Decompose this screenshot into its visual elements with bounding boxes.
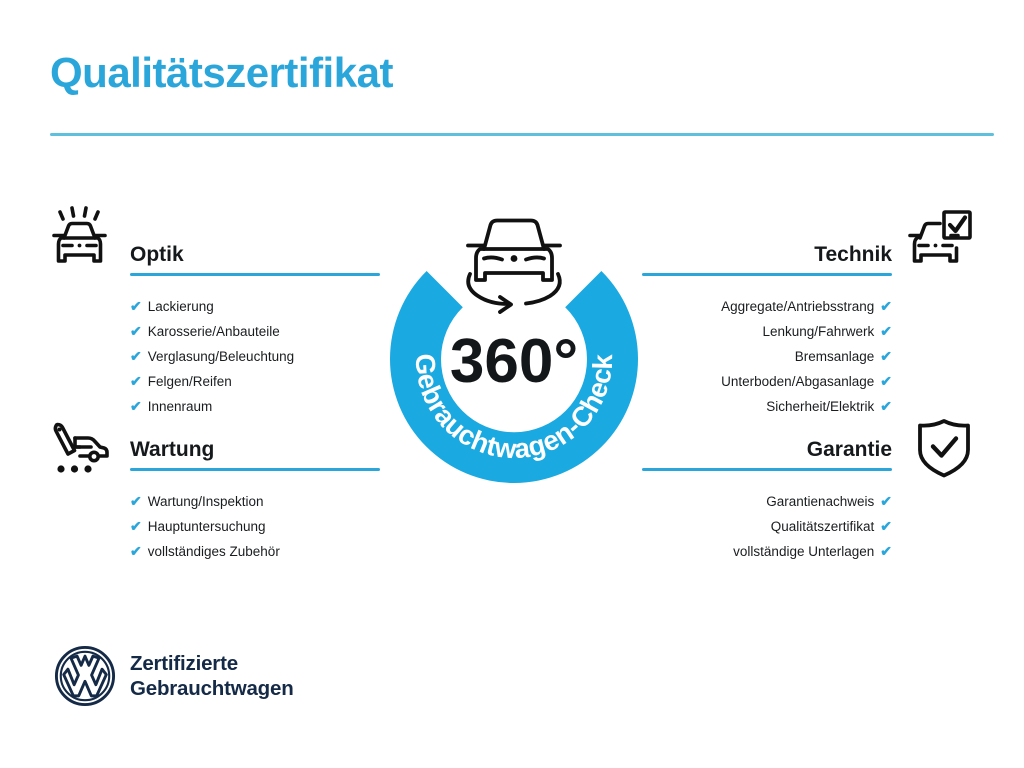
section-optik-underline <box>130 273 380 276</box>
check-icon: ✔ <box>130 518 142 534</box>
section-optik: Optik ✔Lackierung ✔Karosserie/Anbauteile… <box>130 240 380 419</box>
list-item-label: vollständige Unterlagen <box>733 544 874 559</box>
section-technik-underline <box>642 273 892 276</box>
check-icon: ✔ <box>130 348 142 364</box>
check-icon: ✔ <box>130 493 142 509</box>
list-item: ✔Verglasung/Beleuchtung <box>130 344 380 369</box>
section-optik-list: ✔Lackierung ✔Karosserie/Anbauteile ✔Verg… <box>130 294 380 419</box>
section-technik: Technik Aggregate/Antriebsstrang✔ Lenkun… <box>642 240 892 419</box>
section-wartung-underline <box>130 468 380 471</box>
section-wartung-header: Wartung <box>130 435 380 479</box>
section-technik-title: Technik <box>642 240 892 270</box>
check-icon: ✔ <box>130 398 142 414</box>
car-checkbox-icon <box>904 204 976 276</box>
section-optik-title: Optik <box>130 240 380 270</box>
check-icon: ✔ <box>880 398 892 414</box>
section-optik-header: Optik <box>130 240 380 284</box>
list-item-label: Garantienachweis <box>766 494 874 509</box>
list-item: ✔vollständiges Zubehör <box>130 539 380 564</box>
list-item-label: Verglasung/Beleuchtung <box>148 349 294 364</box>
list-item: Sicherheit/Elektrik✔ <box>642 394 892 419</box>
check-icon: ✔ <box>880 348 892 364</box>
section-technik-header: Technik <box>642 240 892 284</box>
shield-check-icon <box>908 412 980 484</box>
car-shine-icon <box>44 204 116 276</box>
list-item: vollständige Unterlagen✔ <box>642 539 892 564</box>
list-item: Unterboden/Abgasanlage✔ <box>642 369 892 394</box>
360-check-badge: Gebrauchtwagen-Check 360° <box>378 192 650 484</box>
list-item-label: Bremsanlage <box>795 349 875 364</box>
list-item: Lenkung/Fahrwerk✔ <box>642 319 892 344</box>
list-item-label: Sicherheit/Elektrik <box>766 399 874 414</box>
check-icon: ✔ <box>880 323 892 339</box>
list-item-label: Wartung/Inspektion <box>148 494 264 509</box>
check-icon: ✔ <box>130 323 142 339</box>
list-item-label: Lenkung/Fahrwerk <box>762 324 874 339</box>
list-item-label: Felgen/Reifen <box>148 374 232 389</box>
vw-certified-logo: Zertifizierte Gebrauchtwagen <box>54 645 294 707</box>
list-item-label: Innenraum <box>148 399 213 414</box>
section-garantie: Garantie Garantienachweis✔ Qualitätszert… <box>642 435 892 564</box>
check-icon: ✔ <box>880 373 892 389</box>
check-icon: ✔ <box>880 298 892 314</box>
list-item: ✔Hauptuntersuchung <box>130 514 380 539</box>
car-rotation-icon <box>468 221 560 313</box>
section-wartung-title: Wartung <box>130 435 380 465</box>
check-icon: ✔ <box>130 298 142 314</box>
list-item: Garantienachweis✔ <box>642 489 892 514</box>
page-title: Qualitätszertifikat <box>50 52 393 94</box>
check-icon: ✔ <box>130 373 142 389</box>
vw-logo <box>54 645 116 707</box>
list-item-label: Qualitätszertifikat <box>771 519 875 534</box>
list-item: Aggregate/Antriebsstrang✔ <box>642 294 892 319</box>
list-item: Qualitätszertifikat✔ <box>642 514 892 539</box>
section-garantie-list: Garantienachweis✔ Qualitätszertifikat✔ v… <box>642 489 892 564</box>
vw-wordmark-line1: Zertifizierte <box>130 651 294 676</box>
check-icon: ✔ <box>880 493 892 509</box>
list-item-label: Karosserie/Anbauteile <box>148 324 280 339</box>
wrench-car-icon <box>44 412 116 484</box>
section-garantie-header: Garantie <box>642 435 892 479</box>
check-icon: ✔ <box>880 518 892 534</box>
list-item: ✔Innenraum <box>130 394 380 419</box>
list-item-label: Lackierung <box>148 299 214 314</box>
list-item-label: vollständiges Zubehör <box>148 544 280 559</box>
list-item: ✔Karosserie/Anbauteile <box>130 319 380 344</box>
section-garantie-title: Garantie <box>642 435 892 465</box>
title-divider <box>50 133 994 136</box>
list-item-label: Aggregate/Antriebsstrang <box>721 299 874 314</box>
section-wartung: Wartung ✔Wartung/Inspektion ✔Hauptunters… <box>130 435 380 564</box>
list-item: Bremsanlage✔ <box>642 344 892 369</box>
list-item: ✔Wartung/Inspektion <box>130 489 380 514</box>
list-item-label: Hauptuntersuchung <box>148 519 266 534</box>
list-item: ✔Felgen/Reifen <box>130 369 380 394</box>
check-icon: ✔ <box>130 543 142 559</box>
list-item-label: Unterboden/Abgasanlage <box>721 374 874 389</box>
list-item: ✔Lackierung <box>130 294 380 319</box>
section-wartung-list: ✔Wartung/Inspektion ✔Hauptuntersuchung ✔… <box>130 489 380 564</box>
degrees-label: 360° <box>450 327 578 396</box>
section-technik-list: Aggregate/Antriebsstrang✔ Lenkung/Fahrwe… <box>642 294 892 419</box>
section-garantie-underline <box>642 468 892 471</box>
vw-wordmark-line2: Gebrauchtwagen <box>130 676 294 701</box>
vw-logo-wordmark: Zertifizierte Gebrauchtwagen <box>130 651 294 701</box>
check-icon: ✔ <box>880 543 892 559</box>
